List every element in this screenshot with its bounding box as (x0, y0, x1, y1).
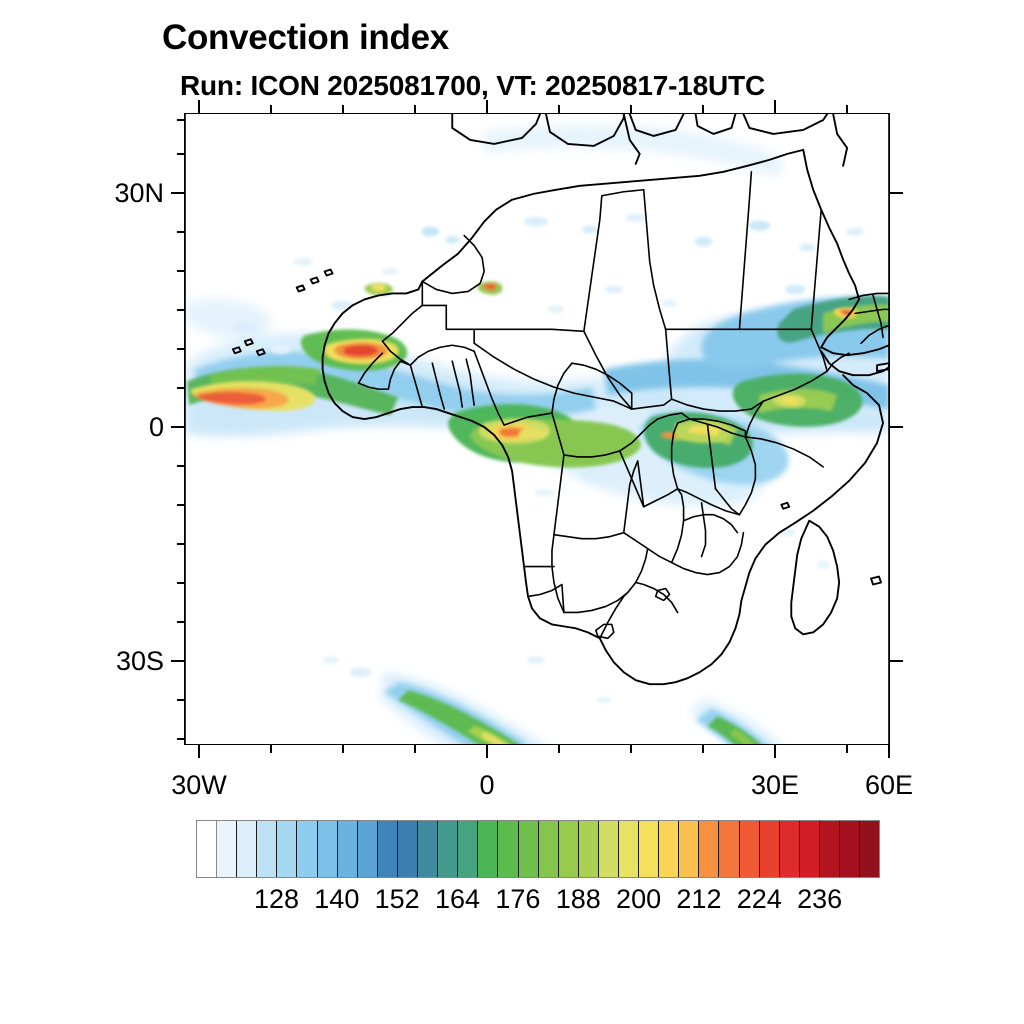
colorbar-tick-label: 188 (556, 884, 601, 915)
colorbar-cell (197, 821, 217, 877)
colorbar-cell (760, 821, 780, 877)
colorbar-cell (338, 821, 358, 877)
colorbar-tick-label: 128 (254, 884, 299, 915)
colorbar-cell (257, 821, 277, 877)
colorbar-cell (498, 821, 518, 877)
colorbar-cell (378, 821, 398, 877)
colorbar-cell (358, 821, 378, 877)
y-axis-label-30n: 30N (66, 178, 164, 209)
colorbar-tick-label: 200 (616, 884, 661, 915)
x-axis-label-30e: 30E (715, 770, 835, 801)
colorbar-tick-label: 236 (797, 884, 842, 915)
colorbar-cell (318, 821, 338, 877)
colorbar-cell (740, 821, 760, 877)
colorbar-cell (418, 821, 438, 877)
colorbar[interactable] (196, 820, 880, 878)
colorbar-cell (579, 821, 599, 877)
colorbar-tick-label: 152 (375, 884, 420, 915)
colorbar-tick-label: 212 (676, 884, 721, 915)
x-axis-label-60e: 60E (829, 770, 949, 801)
colorbar-cell (679, 821, 699, 877)
colorbar-cell (478, 821, 498, 877)
figure-root: Convection index Run: ICON 2025081700, V… (0, 0, 1024, 1024)
colorbar-cell (619, 821, 639, 877)
colorbar-cell (699, 821, 719, 877)
colorbar-cell (820, 821, 840, 877)
page-subtitle: Run: ICON 2025081700, VT: 20250817-18UTC (180, 70, 765, 102)
x-axis-label-0: 0 (427, 770, 547, 801)
colorbar-cell (860, 821, 879, 877)
y-axis-label-0: 0 (66, 412, 164, 443)
y-axis-label-30s: 30S (66, 646, 164, 677)
colorbar-cell (297, 821, 317, 877)
colorbar-cell (840, 821, 860, 877)
colorbar-cell (277, 821, 297, 877)
colorbar-cell (719, 821, 739, 877)
colorbar-tick-label: 176 (495, 884, 540, 915)
colorbar-cell (438, 821, 458, 877)
colorbar-cell (458, 821, 478, 877)
colorbar-cell (599, 821, 619, 877)
colorbar-cell (539, 821, 559, 877)
colorbar-cell (559, 821, 579, 877)
colorbar-cell (237, 821, 257, 877)
colorbar-cell (780, 821, 800, 877)
colorbar-cell (659, 821, 679, 877)
colorbar-cell (519, 821, 539, 877)
page-title: Convection index (162, 18, 449, 58)
colorbar-labels: 128140152164176188200212224236 (196, 884, 880, 918)
colorbar-tick-label: 224 (737, 884, 782, 915)
colorbar-cell (639, 821, 659, 877)
colorbar-cell (398, 821, 418, 877)
map-panel[interactable] (184, 113, 890, 745)
colorbar-tick-label: 164 (435, 884, 480, 915)
colorbar-tick-label: 140 (314, 884, 359, 915)
colorbar-cell (217, 821, 237, 877)
colorbar-cell (800, 821, 820, 877)
map-canvas (185, 114, 889, 744)
x-axis-label-30w: 30W (139, 770, 259, 801)
